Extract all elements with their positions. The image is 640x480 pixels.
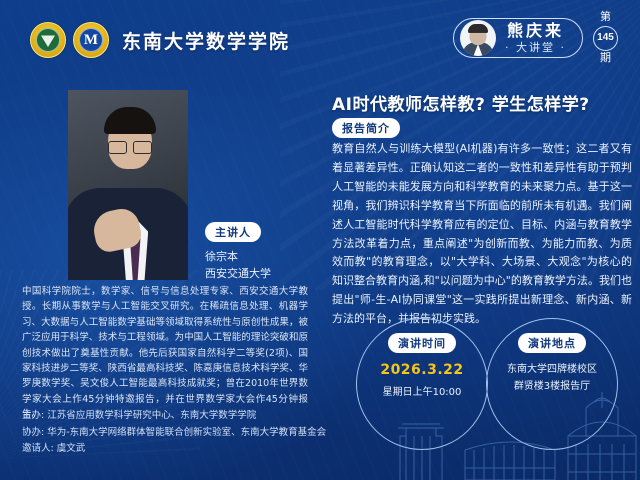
speaker-bio: 中国科学院院士，数学家、信号与信息处理专家、西安交通大学教授。长期从事数学与人工… xyxy=(22,284,308,422)
event-place-badge: 演讲地点 xyxy=(518,333,586,353)
header-lecture-series: 熊庆来 · 大讲堂 · 第 145 期 xyxy=(453,12,618,64)
abstract-badge: 报告简介 xyxy=(332,118,400,138)
lecture-series-subtitle: · 大讲堂 · xyxy=(505,42,566,53)
lecture-series-badge: 熊庆来 · 大讲堂 · xyxy=(453,18,583,58)
event-details: 演讲时间 2026.3.22 星期日上午10:00 演讲地点 东南大学四牌楼校区… xyxy=(336,318,632,428)
xiong-qinglai-portrait-icon xyxy=(460,20,496,56)
event-place-line2: 群贤楼3楼报告厅 xyxy=(514,379,590,396)
lecture-abstract: 教育自然人与训练大模型(AI机器)有许多一致性；这二者又有着显著差异性。正确认知… xyxy=(332,140,632,329)
issue-suffix: 期 xyxy=(600,53,611,65)
footer-cohost: 协办: 华为-东南大学网络群体智能联合创新实验室、东南大学教育基金会 xyxy=(22,425,326,442)
header-branding: M 东南大学数学学院 xyxy=(30,22,290,58)
seal-logo-math-school-icon: M xyxy=(73,22,109,58)
footer-host: 主办: 江苏省应用数学科学研究中心、东南大学数学学院 xyxy=(22,408,326,425)
event-place-line1: 东南大学四牌楼校区 xyxy=(507,362,597,379)
speaker-info: 主讲人 徐宗本 西安交通大学 xyxy=(205,222,271,282)
speaker-name: 徐宗本 xyxy=(205,249,271,266)
lecture-series-name: 熊庆来 xyxy=(507,23,564,39)
event-place-circle: 演讲地点 东南大学四牌楼校区 群贤楼3楼报告厅 xyxy=(486,318,618,450)
issue-value: 145 xyxy=(593,26,618,51)
abstract-badge-wrap: 报告简介 xyxy=(332,118,400,138)
lecture-title: AI时代教师怎样教? 学生怎样学? xyxy=(332,90,632,115)
speaker-affiliation: 西安交通大学 xyxy=(205,266,271,283)
lecture-poster: M 东南大学数学学院 熊庆来 · 大讲堂 · 第 145 期 xyxy=(0,0,640,480)
issue-number: 第 145 期 xyxy=(593,12,618,64)
event-time-badge: 演讲时间 xyxy=(388,333,456,353)
issue-prefix: 第 xyxy=(600,12,611,24)
speaker-name-affiliation: 徐宗本 西安交通大学 xyxy=(205,249,271,282)
event-time-circle: 演讲时间 2026.3.22 星期日上午10:00 xyxy=(356,318,488,450)
footer-inviter: 邀请人: 虞文武 xyxy=(22,441,326,458)
event-date: 2026.3.22 xyxy=(380,362,463,378)
university-name: 东南大学数学学院 xyxy=(122,27,290,54)
poster-header: M 东南大学数学学院 熊庆来 · 大讲堂 · 第 145 期 xyxy=(0,0,640,72)
event-time-detail: 星期日上午10:00 xyxy=(383,383,462,398)
speaker-badge: 主讲人 xyxy=(205,222,261,242)
seal-logo-university-icon xyxy=(30,22,66,58)
speaker-portrait xyxy=(68,90,188,280)
poster-footer: 主办: 江苏省应用数学科学研究中心、东南大学数学学院 协办: 华为-东南大学网络… xyxy=(22,408,326,458)
